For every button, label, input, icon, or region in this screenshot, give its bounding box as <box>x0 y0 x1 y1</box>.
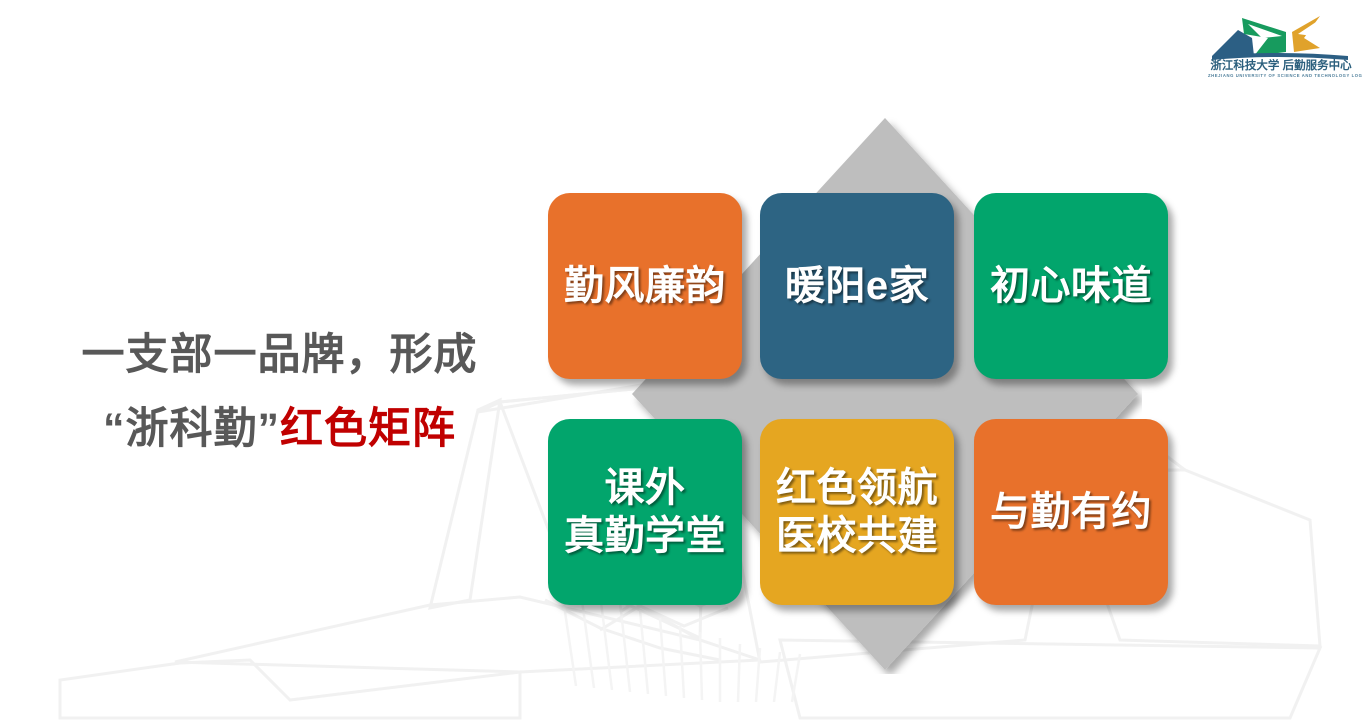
heading-line-2: “浙科勤”红色矩阵 <box>52 392 507 466</box>
heading-line-1: 一支部一品牌，形成 <box>52 318 507 392</box>
logo-text-chinese: 浙江科技大学 后勤服务中心 <box>1208 60 1354 72</box>
page-title: 一支部一品牌，形成 “浙科勤”红色矩阵 <box>52 318 507 466</box>
logo-mark-icon <box>1208 4 1354 62</box>
brand-card-kewaizhenqinxuetang[interactable]: 课外 真勤学堂 <box>548 419 742 605</box>
brand-card-label: 勤风廉韵 <box>564 262 726 310</box>
brand-card-label: 暖阳e家 <box>785 262 929 310</box>
brand-card-label: 与勤有约 <box>990 488 1152 536</box>
heading-line-2-accent: 红色矩阵 <box>280 405 456 453</box>
university-logo: 浙江科技大学 后勤服务中心 ZHEJIANG UNIVERSITY OF SCI… <box>1208 4 1354 84</box>
brand-card-label: 初心味道 <box>990 262 1152 310</box>
brand-card-hongselinghang[interactable]: 红色领航 医校共建 <box>760 419 954 605</box>
brand-card-label: 课外 真勤学堂 <box>564 464 726 560</box>
brand-card-yuqinyouyue[interactable]: 与勤有约 <box>974 419 1168 605</box>
brand-card-nuanyangejia[interactable]: 暖阳e家 <box>760 193 954 379</box>
logo-text-english: ZHEJIANG UNIVERSITY OF SCIENCE AND TECHN… <box>1208 73 1354 79</box>
brand-card-chuxinweidao[interactable]: 初心味道 <box>974 193 1168 379</box>
heading-line-2-prefix: “浙科勤” <box>103 405 280 453</box>
brand-card-label: 红色领航 医校共建 <box>776 464 938 560</box>
slide-canvas: 浙江科技大学 后勤服务中心 ZHEJIANG UNIVERSITY OF SCI… <box>0 0 1362 724</box>
brand-card-qinfenglianyun[interactable]: 勤风廉韵 <box>548 193 742 379</box>
